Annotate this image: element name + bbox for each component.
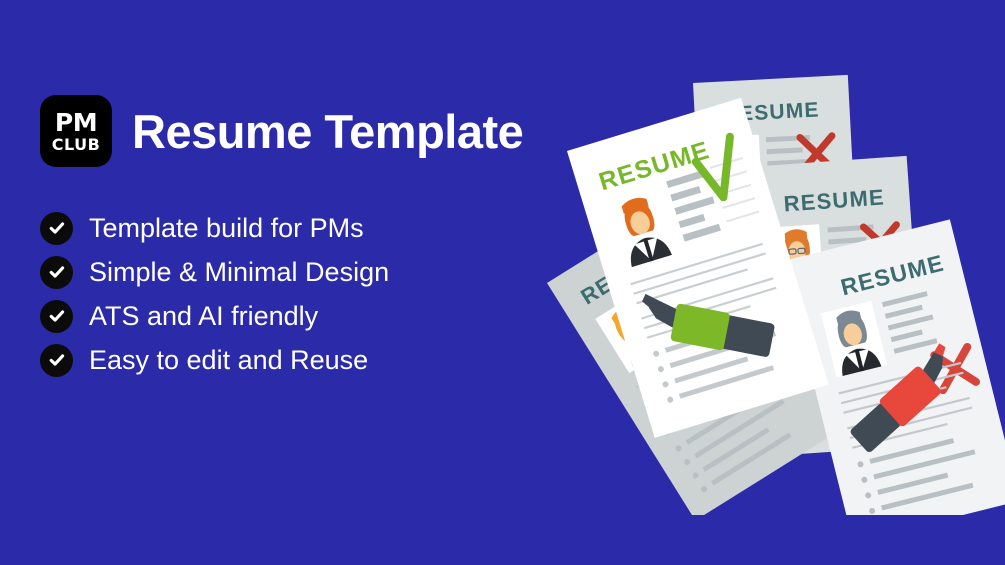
check-icon bbox=[40, 300, 73, 333]
logo-club-text: CLUB bbox=[52, 137, 101, 153]
feature-label: Template build for PMs bbox=[89, 213, 364, 244]
feature-item-0: Template build for PMs bbox=[40, 206, 560, 250]
feature-item-1: Simple & Minimal Design bbox=[40, 250, 560, 294]
feature-item-3: Easy to edit and Reuse bbox=[40, 338, 560, 382]
check-icon bbox=[40, 256, 73, 289]
check-icon bbox=[40, 344, 73, 377]
pmclub-logo: PM CLUB bbox=[40, 95, 112, 167]
check-icon bbox=[40, 212, 73, 245]
feature-label: Easy to edit and Reuse bbox=[89, 345, 368, 376]
promo-banner: PM CLUB Resume Template Template build f… bbox=[0, 0, 1005, 565]
page-title: Resume Template bbox=[132, 104, 523, 159]
feature-label: Simple & Minimal Design bbox=[89, 257, 389, 288]
logo-pm-text: PM bbox=[55, 110, 97, 135]
resumes-svg: RESUME bbox=[515, 55, 1005, 515]
feature-list: Template build for PMs Simple & Minimal … bbox=[40, 206, 560, 382]
left-content-column: PM CLUB Resume Template Template build f… bbox=[40, 88, 560, 398]
brand-row: PM CLUB Resume Template bbox=[40, 88, 560, 174]
stack-of-resumes-illustration: RESUME bbox=[515, 55, 1005, 515]
feature-label: ATS and AI friendly bbox=[89, 301, 318, 332]
feature-item-2: ATS and AI friendly bbox=[40, 294, 560, 338]
